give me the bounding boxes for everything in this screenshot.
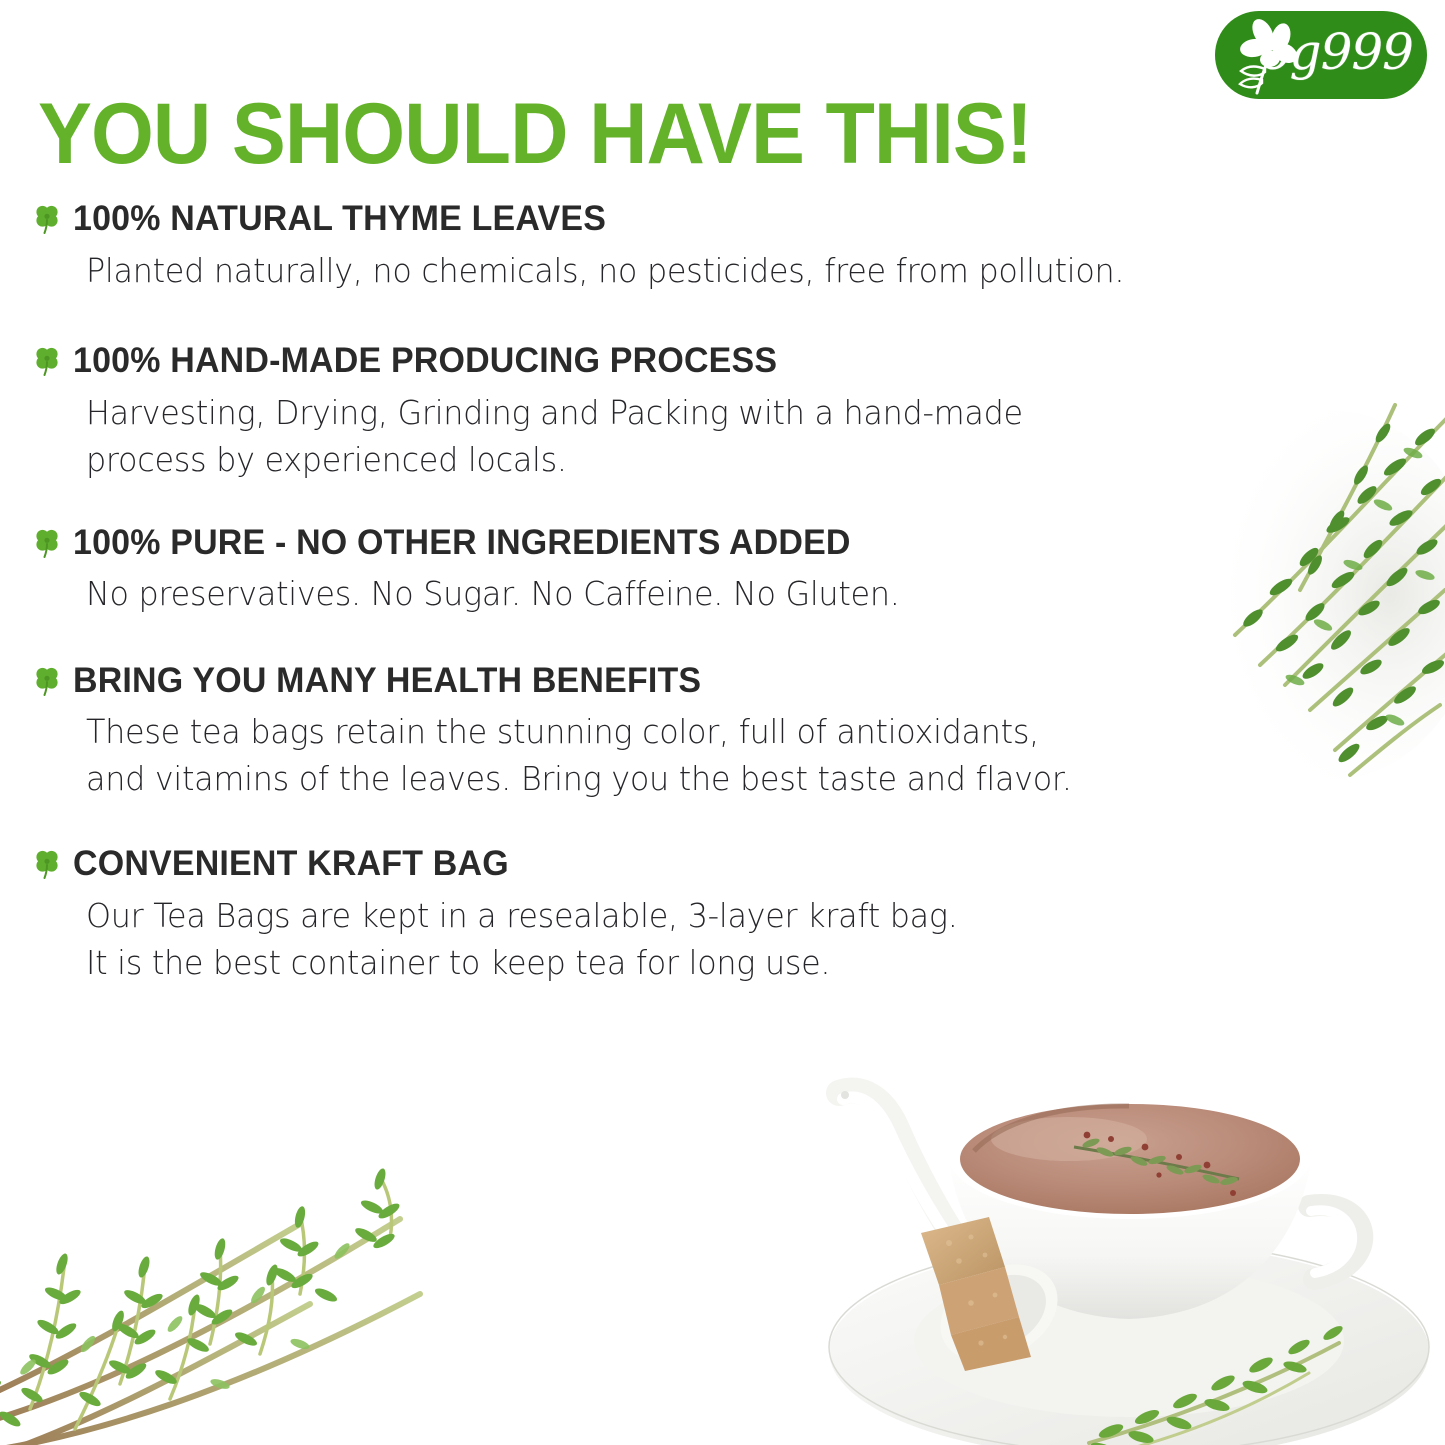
feature-item-hand-made-process: 100% HAND-MADE PRODUCING PROCESS Harvest… xyxy=(34,342,1374,483)
feature-title: 100% HAND-MADE PRODUCING PROCESS xyxy=(73,342,777,381)
teacup-photo xyxy=(799,1051,1445,1445)
feature-heading-row: 100% HAND-MADE PRODUCING PROCESS xyxy=(34,342,1374,381)
flower-icon xyxy=(1229,17,1315,97)
clover-icon xyxy=(34,528,60,558)
feature-body-line: and vitamins of the leaves. Bring you th… xyxy=(86,756,1329,803)
feature-body-line: These tea bags retain the stunning color… xyxy=(86,709,1329,756)
clover-icon xyxy=(34,849,60,879)
clover-icon xyxy=(34,346,60,376)
feature-body: These tea bags retain the stunning color… xyxy=(86,709,1329,803)
page-title: YOU SHOULD HAVE THIS! xyxy=(38,92,1032,176)
feature-body: No preservatives. No Sugar. No Caffeine.… xyxy=(86,571,1329,618)
feature-title: BRING YOU MANY HEALTH BENEFITS xyxy=(73,662,701,701)
feature-item-natural-thyme-leaves: 100% NATURAL THYME LEAVES Planted natura… xyxy=(34,200,1374,294)
feature-body-line: No preservatives. No Sugar. No Caffeine.… xyxy=(86,571,1329,618)
feature-body-line: Our Tea Bags are kept in a resealable, 3… xyxy=(86,893,1329,940)
feature-item-kraft-bag: CONVENIENT KRAFT BAG Our Tea Bags are ke… xyxy=(34,845,1374,986)
feature-body: Harvesting, Drying, Grinding and Packing… xyxy=(86,390,1329,484)
infographic-page: og999 YOU SHOULD HAVE THIS! 100% NATURAL… xyxy=(0,0,1445,1445)
feature-item-health-benefits: BRING YOU MANY HEALTH BENEFITS These tea… xyxy=(34,662,1374,803)
feature-body: Planted naturally, no chemicals, no pest… xyxy=(86,248,1329,295)
feature-heading-row: BRING YOU MANY HEALTH BENEFITS xyxy=(34,662,1374,701)
feature-body-line: process by experienced locals. xyxy=(86,437,1329,484)
feature-body: Our Tea Bags are kept in a resealable, 3… xyxy=(86,893,1329,987)
feature-title: 100% PURE - NO OTHER INGREDIENTS ADDED xyxy=(73,524,851,563)
feature-heading-row: 100% PURE - NO OTHER INGREDIENTS ADDED xyxy=(34,524,1374,563)
feature-body-line: Planted naturally, no chemicals, no pest… xyxy=(86,248,1329,295)
brand-logo: og999 xyxy=(1215,11,1427,99)
feature-body-line: It is the best container to keep tea for… xyxy=(86,940,1329,987)
clover-icon xyxy=(34,204,60,234)
thyme-sprigs-left xyxy=(0,1099,470,1445)
feature-body-line: Harvesting, Drying, Grinding and Packing… xyxy=(86,390,1329,437)
feature-title: 100% NATURAL THYME LEAVES xyxy=(73,200,606,239)
clover-icon xyxy=(34,666,60,696)
feature-heading-row: CONVENIENT KRAFT BAG xyxy=(34,845,1374,884)
feature-heading-row: 100% NATURAL THYME LEAVES xyxy=(34,200,1374,239)
feature-list: 100% NATURAL THYME LEAVES Planted natura… xyxy=(34,200,1374,986)
feature-item-pure-no-additives: 100% PURE - NO OTHER INGREDIENTS ADDED N… xyxy=(34,524,1374,618)
feature-title: CONVENIENT KRAFT BAG xyxy=(73,845,509,884)
